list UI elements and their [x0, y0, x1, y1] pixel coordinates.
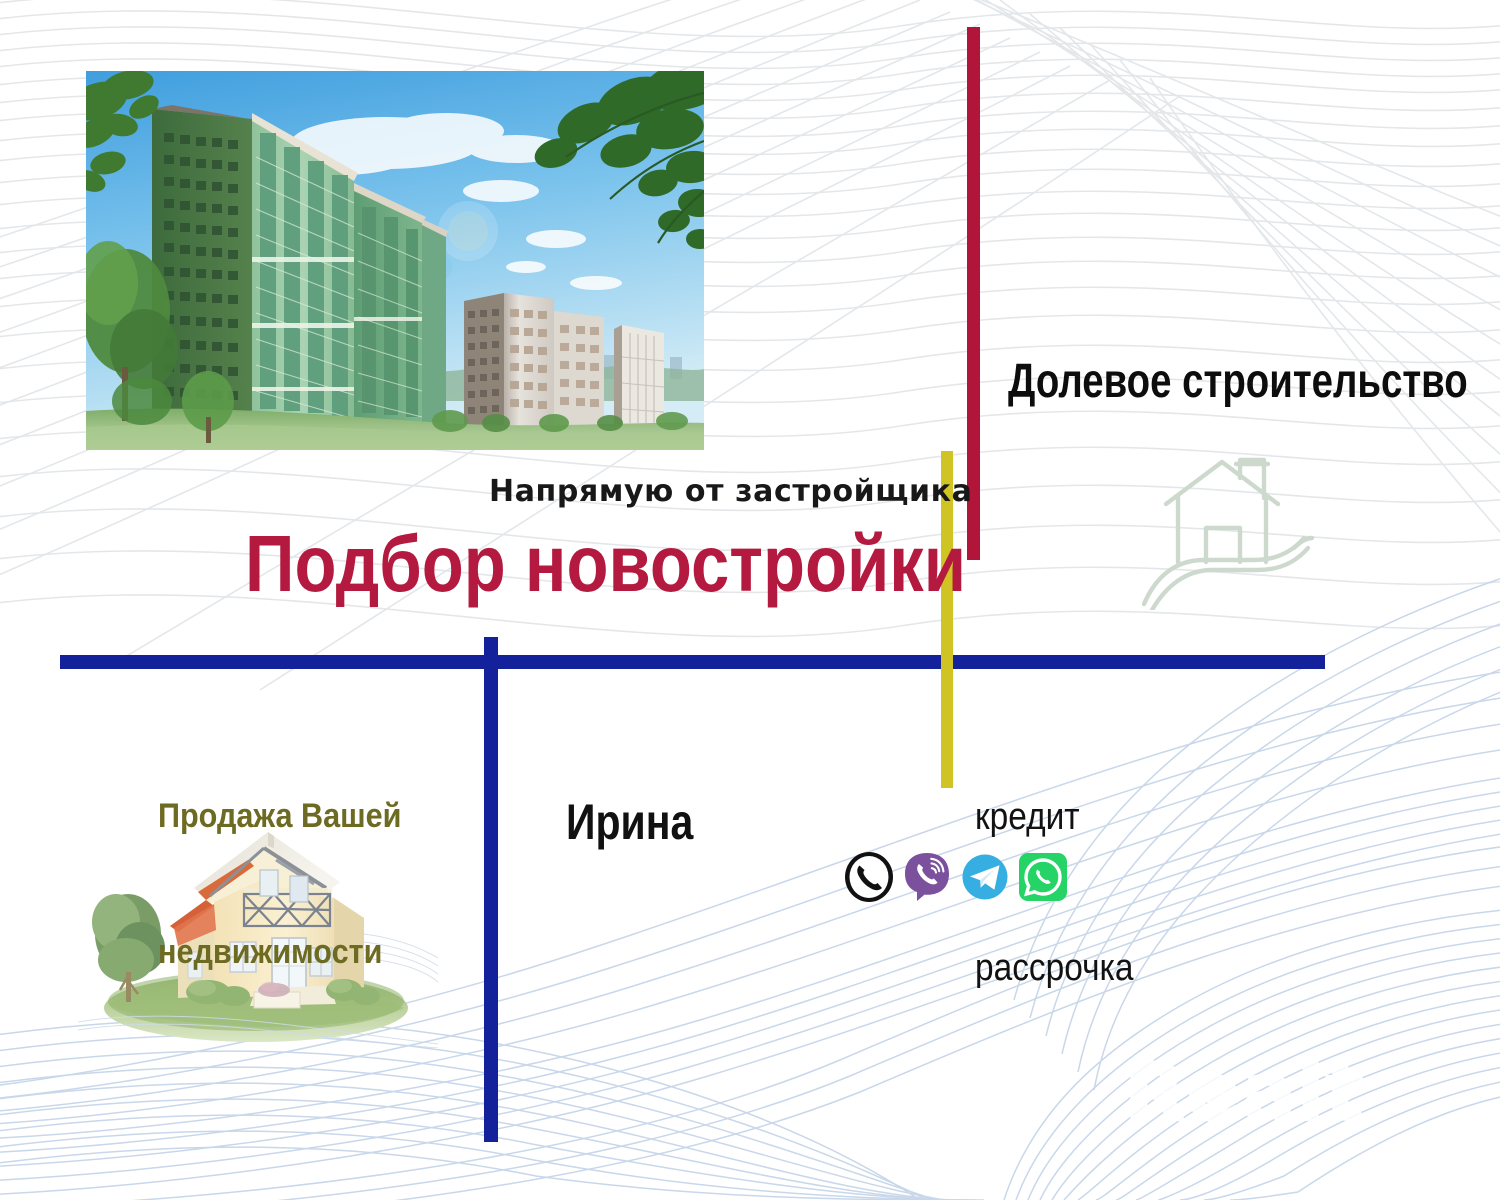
- viber-icon[interactable]: [899, 849, 955, 905]
- agent-name: Ирина: [566, 797, 693, 847]
- sell-offer-line-1: Продажа Вашей: [158, 794, 401, 839]
- contact-icon-row: [841, 848, 1071, 906]
- kicker-text: Напрямую от застройщика: [489, 474, 973, 509]
- horizontal-blue-divider: [60, 655, 1325, 669]
- telegram-icon[interactable]: [957, 849, 1013, 905]
- whatsapp-icon[interactable]: [1015, 849, 1071, 905]
- house-in-hand-icon: [1142, 452, 1318, 610]
- shared-construction-heading: Долевое строительство: [1008, 358, 1468, 406]
- financing-installment-line: рассрочка: [975, 943, 1133, 993]
- sell-offer-line-2: недвижимости: [158, 930, 401, 975]
- promo-banner: Realt: [0, 0, 1500, 1200]
- vertical-blue-divider: [484, 637, 498, 1142]
- page-title: Подбор новостройки: [245, 524, 966, 604]
- sell-property-offer: Продажа Вашей недвижимости: [158, 704, 401, 1066]
- phone-icon[interactable]: [841, 849, 897, 905]
- financing-credit-line: кредит: [975, 792, 1133, 842]
- realt-watermark: Realt: [1124, 1053, 1365, 1133]
- new-buildings-photo: [86, 71, 704, 450]
